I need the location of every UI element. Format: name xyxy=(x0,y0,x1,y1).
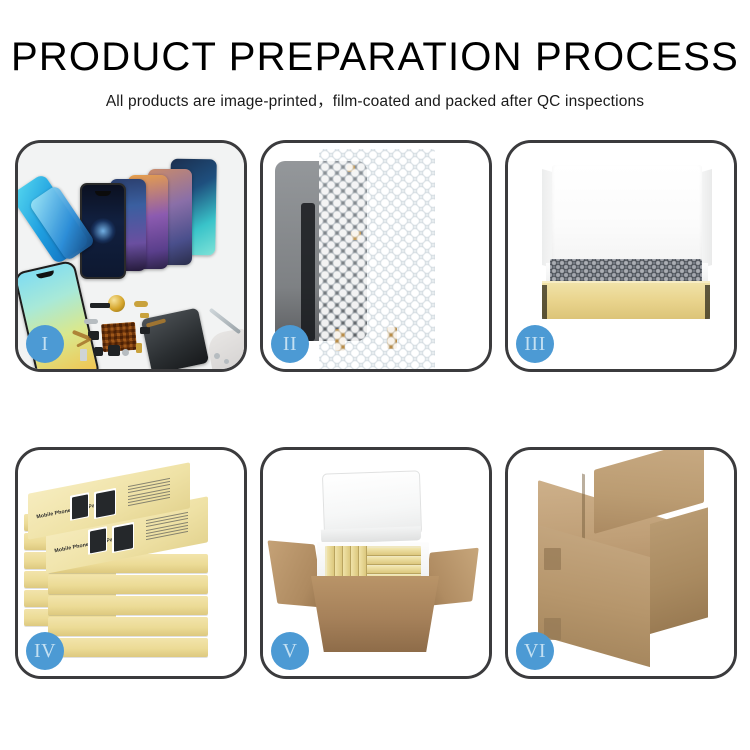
loose-screw-1-icon xyxy=(214,353,220,359)
stacked-box-r4 xyxy=(48,617,208,636)
step-badge-2: II xyxy=(271,325,309,363)
spare-part-strip-icon xyxy=(90,303,110,308)
page-header: PRODUCT PREPARATION PROCESS All products… xyxy=(0,0,750,111)
phone-backplate-icon xyxy=(141,308,209,369)
spare-part-gold-flex-icon xyxy=(134,301,148,307)
process-step-panel-6[interactable]: VI xyxy=(505,447,737,679)
spare-part-speaker-icon xyxy=(108,345,120,356)
process-step-panel-1[interactable]: I xyxy=(15,140,247,372)
stacked-box-r3 xyxy=(48,596,208,615)
loose-screw-2-icon xyxy=(224,359,229,364)
process-step-panel-5[interactable]: V xyxy=(260,447,492,679)
kraft-box-body-icon xyxy=(542,283,710,319)
sealed-carton-side-face-icon xyxy=(650,507,708,634)
tweezers-icon xyxy=(209,308,241,335)
sealed-carton-top-seam-icon xyxy=(582,474,585,539)
page-subtitle: All products are image-printed，film-coat… xyxy=(0,89,750,111)
bubble-wrap-texture-overlay xyxy=(319,149,435,369)
box-window-2b xyxy=(112,522,134,553)
carton-tape-upper-icon xyxy=(544,548,561,570)
spare-part-chip-icon xyxy=(140,327,150,334)
box-window-1a xyxy=(70,492,89,521)
kraft-box-corner-right-icon xyxy=(705,285,710,319)
process-step-panel-3[interactable]: III xyxy=(505,140,737,372)
step-badge-6: VI xyxy=(516,632,554,670)
wrapped-screen-flex-strip-icon xyxy=(301,203,315,341)
box-window-1b xyxy=(94,488,116,519)
step-badge-1: I xyxy=(26,325,64,363)
step-badge-5: V xyxy=(271,632,309,670)
step-badge-3: III xyxy=(516,325,554,363)
box-window-2a xyxy=(88,526,107,555)
vibration-motor-icon xyxy=(108,295,125,312)
spare-part-screw-icon xyxy=(122,349,129,356)
spare-part-small-flex-icon xyxy=(136,343,142,353)
stacked-box-r2 xyxy=(48,575,208,594)
carton-body-icon xyxy=(311,576,439,652)
page-title: PRODUCT PREPARATION PROCESS xyxy=(0,36,750,78)
process-step-panel-4[interactable]: Mobile Phone Spare Parts Mobile Phone Sp… xyxy=(15,447,247,679)
spare-part-camera-icon xyxy=(94,347,103,356)
spare-part-bracket-icon xyxy=(84,319,98,324)
step-badge-4: IV xyxy=(26,632,64,670)
stacked-box-r5 xyxy=(48,638,208,657)
process-steps-grid: I II III xyxy=(0,140,750,679)
spare-part-connector-icon xyxy=(140,313,149,318)
process-step-panel-2[interactable]: II xyxy=(260,140,492,372)
kraft-box-corner-left-icon xyxy=(542,285,547,319)
spare-part-sim-tray-icon xyxy=(80,349,87,361)
